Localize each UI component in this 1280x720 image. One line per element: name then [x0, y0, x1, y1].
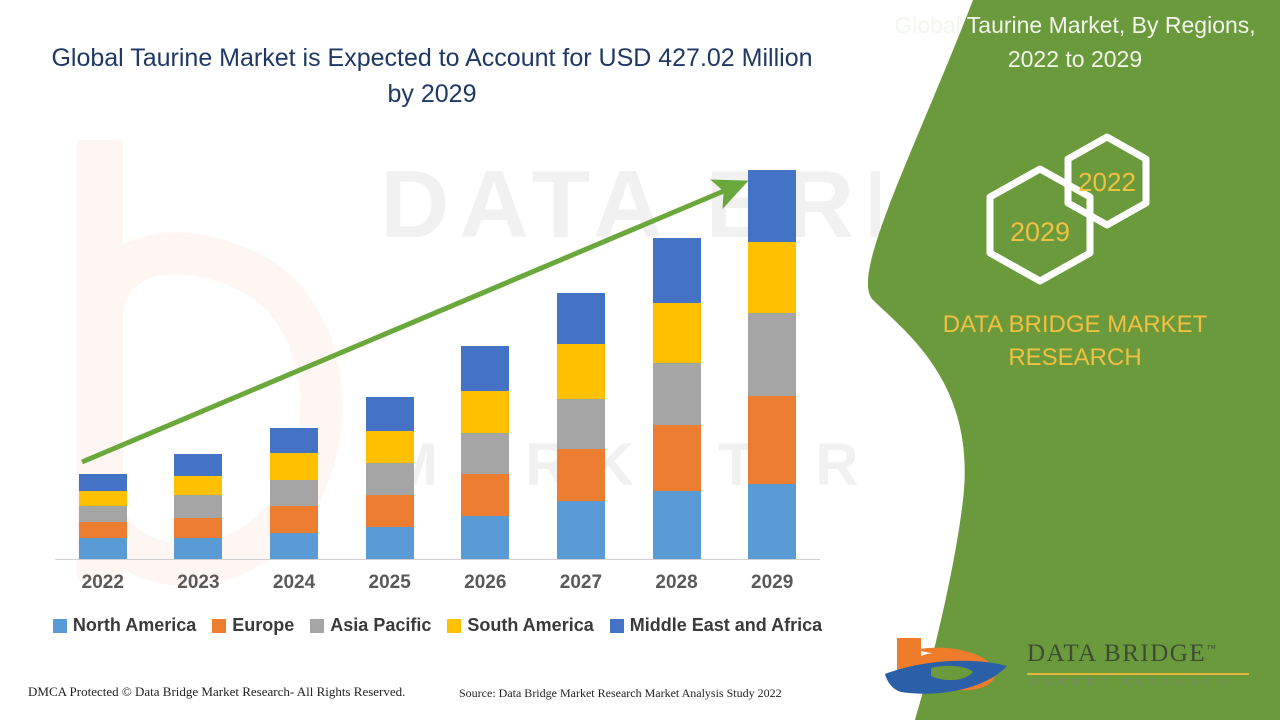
bar-column-2028[interactable] [653, 238, 701, 559]
bar-segment [79, 506, 127, 522]
legend-swatch-icon [53, 619, 67, 633]
logo-wordmark-text: DATA BRIDGE [1027, 640, 1206, 667]
legend-label: North America [73, 615, 196, 636]
legend-swatch-icon [447, 619, 461, 633]
legend-label: Asia Pacific [330, 615, 431, 636]
bar-segment [270, 533, 318, 559]
legend-label: South America [467, 615, 593, 636]
legend-swatch-icon [212, 619, 226, 633]
bar-segment [174, 454, 222, 476]
legend-item[interactable]: Europe [212, 615, 294, 636]
legend-swatch-icon [610, 619, 624, 633]
bar-segment [270, 506, 318, 533]
bar-segment [174, 476, 222, 495]
hexagon-2029-label: 2029 [1010, 217, 1070, 247]
legend-swatch-icon [310, 619, 324, 633]
bar-segment [461, 433, 509, 474]
bar-segment [366, 463, 414, 495]
bar-segment [748, 396, 796, 484]
bar-segment [366, 397, 414, 431]
hexagon-2022-label: 2022 [1078, 167, 1136, 197]
x-axis-line [55, 559, 820, 560]
panel-title: Global Taurine Market, By Regions, 2022 … [877, 8, 1273, 76]
bar-column-2023[interactable] [174, 454, 222, 559]
chart-title: Global Taurine Market is Expected to Acc… [48, 40, 816, 112]
bar-column-2029[interactable] [748, 170, 796, 559]
bar-segment [653, 425, 701, 491]
x-axis-label-2029: 2029 [724, 572, 820, 594]
logo-tagline: MARKET RESEARCH [1028, 676, 1232, 688]
bar-column-2025[interactable] [366, 397, 414, 559]
bar-segment [557, 449, 605, 501]
x-axis-label-2026: 2026 [437, 572, 533, 594]
bar-column-2027[interactable] [557, 293, 605, 559]
bar-segment [79, 491, 127, 506]
bar-column-2022[interactable] [79, 474, 127, 559]
hexagon-group: 2029 2022 [855, 125, 1280, 300]
x-axis-label-2027: 2027 [533, 572, 629, 594]
bar-segment [79, 522, 127, 538]
x-axis-label-2023: 2023 [150, 572, 246, 594]
bar-segment [461, 391, 509, 433]
logo-wordmark: DATA BRIDGE™ [1027, 640, 1217, 668]
bar-segment [748, 313, 796, 396]
company-logo: DATA BRIDGE™ MARKET RESEARCH [875, 632, 1275, 698]
bar-segment [174, 538, 222, 559]
brand-name-text: DATA BRIDGE MARKET RESEARCH [885, 308, 1265, 374]
chart-legend: North AmericaEuropeAsia PacificSouth Ame… [55, 615, 820, 636]
legend-label: Europe [232, 615, 294, 636]
bar-segment [557, 399, 605, 449]
legend-item[interactable]: North America [53, 615, 196, 636]
footer-copyright: DMCA Protected © Data Bridge Market Rese… [28, 684, 405, 700]
chart-plot-area [55, 120, 820, 560]
bar-segment [174, 518, 222, 538]
x-axis-label-2028: 2028 [629, 572, 725, 594]
bar-segment [79, 538, 127, 559]
infographic-page: DATA BRIDGE MARKET RESEARCH Global Tauri… [0, 0, 1280, 720]
bar-segment [461, 346, 509, 391]
x-axis-label-2025: 2025 [342, 572, 438, 594]
bar-segment [748, 484, 796, 559]
footer-source: Source: Data Bridge Market Research Mark… [459, 686, 782, 701]
brand-panel: Global Taurine Market, By Regions, 2022 … [855, 0, 1280, 720]
legend-label: Middle East and Africa [630, 615, 822, 636]
bar-segment [748, 170, 796, 242]
stacked-bars [55, 120, 820, 559]
bar-segment [557, 293, 605, 344]
bar-segment [366, 431, 414, 463]
bar-segment [653, 303, 701, 363]
bar-segment [653, 238, 701, 303]
x-axis-labels: 20222023202420252026202720282029 [55, 572, 820, 598]
bar-segment [748, 242, 796, 313]
logo-trademark: ™ [1206, 644, 1217, 655]
bar-segment [557, 344, 605, 399]
legend-item[interactable]: Middle East and Africa [610, 615, 822, 636]
bar-segment [366, 527, 414, 559]
hexagons-svg: 2029 2022 [855, 125, 1280, 300]
logo-divider [1027, 673, 1249, 675]
bar-segment [461, 516, 509, 559]
legend-item[interactable]: Asia Pacific [310, 615, 431, 636]
x-axis-label-2022: 2022 [55, 572, 151, 594]
bar-segment [79, 474, 127, 491]
legend-item[interactable]: South America [447, 615, 593, 636]
bar-column-2024[interactable] [270, 428, 318, 559]
bar-segment [270, 480, 318, 506]
bar-column-2026[interactable] [461, 346, 509, 559]
bar-segment [174, 495, 222, 518]
x-axis-label-2024: 2024 [246, 572, 342, 594]
bar-segment [557, 501, 605, 559]
bar-segment [653, 491, 701, 559]
bar-segment [270, 428, 318, 453]
bar-segment [653, 363, 701, 425]
bar-segment [270, 453, 318, 480]
bar-segment [366, 495, 414, 527]
bar-segment [461, 474, 509, 516]
